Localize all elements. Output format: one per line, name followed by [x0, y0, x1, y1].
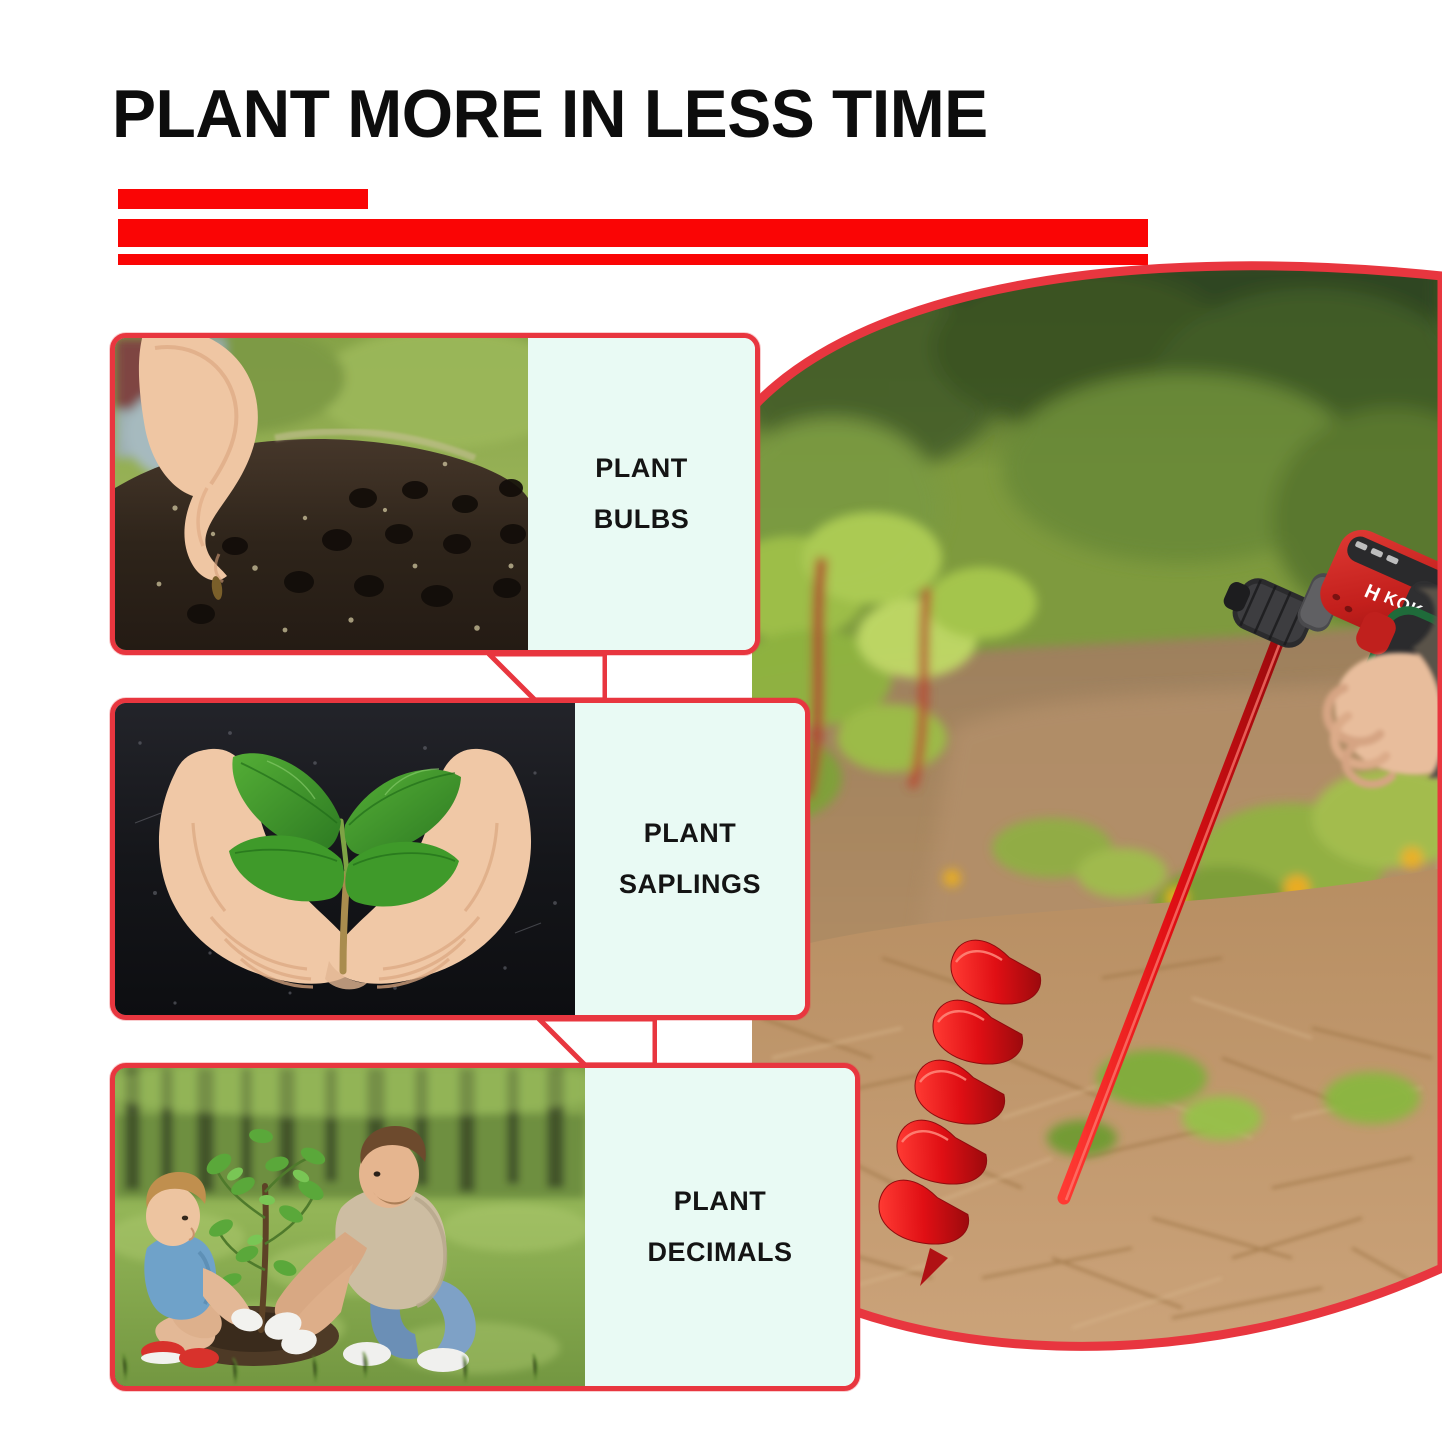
- card-label-line-1: PLANT: [644, 808, 737, 859]
- card-label-plant-saplings: PLANT SAPLINGS: [575, 703, 805, 1015]
- card-label-line-2: BULBS: [594, 494, 690, 545]
- card-connector-1: [487, 650, 607, 704]
- card-connector-2: [537, 1015, 657, 1069]
- card-label-line-2: DECIMALS: [648, 1227, 793, 1278]
- card-label-line-2: SAPLINGS: [619, 859, 761, 910]
- card-label-plant-bulbs: PLANT BULBS: [528, 338, 755, 650]
- feature-card-plant-bulbs[interactable]: PLANT BULBS: [110, 333, 760, 655]
- card-label-plant-decimals: PLANT DECIMALS: [585, 1068, 855, 1386]
- photo-hands-holding-sapling: [115, 703, 575, 1015]
- photo-hand-planting-bulb: [115, 338, 528, 650]
- feature-card-plant-saplings[interactable]: PLANT SAPLINGS: [110, 698, 810, 1020]
- card-label-line-1: PLANT: [674, 1176, 767, 1227]
- card-label-line-1: PLANT: [595, 443, 688, 494]
- page-title: PLANT MORE IN LESS TIME: [112, 80, 1276, 148]
- feature-card-plant-decimals[interactable]: PLANT DECIMALS: [110, 1063, 860, 1391]
- accent-rule-thick: [118, 219, 1148, 247]
- photo-man-and-boy-planting-tree: [115, 1068, 585, 1386]
- accent-rule-short: [118, 189, 368, 209]
